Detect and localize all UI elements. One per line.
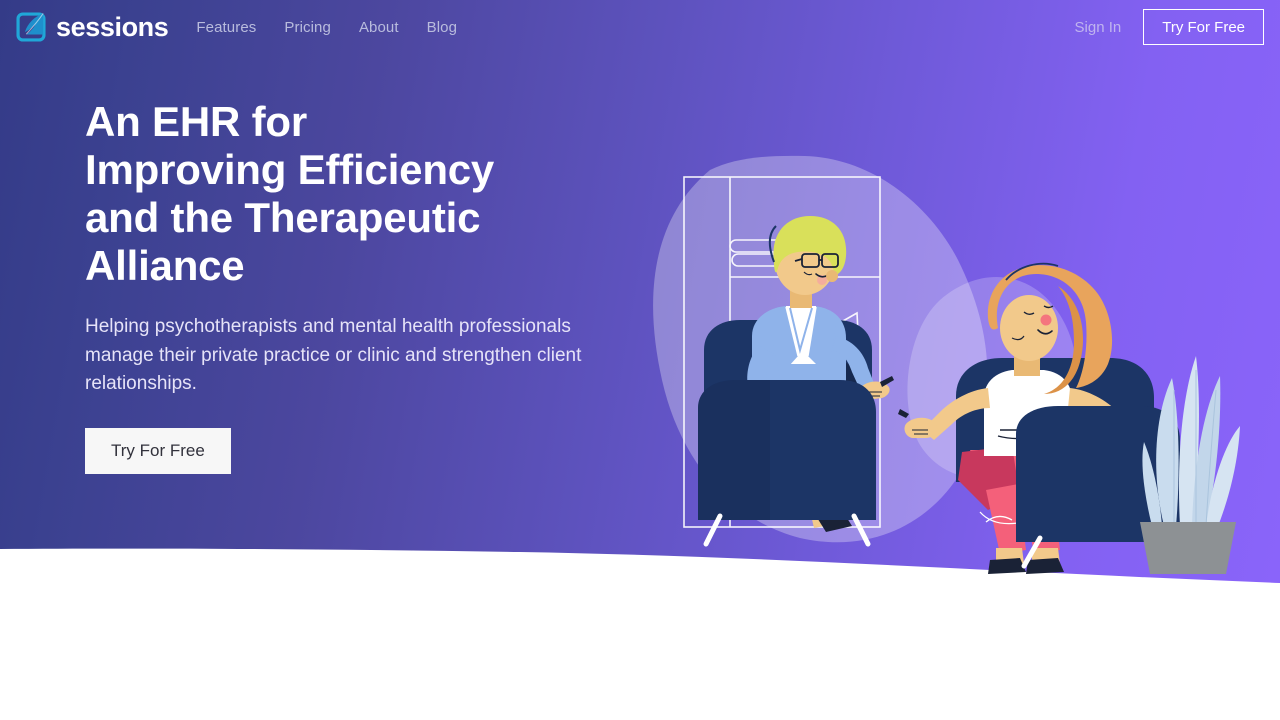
hero-try-for-free-button[interactable]: Try For Free (85, 428, 231, 474)
brand-wordmark: sessions (56, 14, 168, 41)
nav-try-for-free-button[interactable]: Try For Free (1143, 9, 1264, 45)
right-figure-blush (1041, 315, 1052, 326)
nav-link-blog[interactable]: Blog (427, 19, 457, 36)
leaf-in-square-icon (16, 12, 46, 42)
landing-page: sessions Features Pricing About Blog Sig… (0, 0, 1280, 720)
right-figure-shoe-a (988, 558, 1026, 574)
nav-actions-group: Sign In Try For Free (1075, 9, 1264, 45)
plant-pot (1140, 522, 1236, 574)
brand-logo-link[interactable]: sessions (16, 12, 168, 42)
right-figure-head (1000, 295, 1058, 361)
nav-link-about[interactable]: About (359, 19, 399, 36)
nav-links-group: Features Pricing About Blog (196, 19, 457, 36)
nav-link-features[interactable]: Features (196, 19, 256, 36)
right-figure-shoe-b (1026, 558, 1064, 574)
top-navigation-bar: sessions Features Pricing About Blog Sig… (0, 0, 1280, 54)
hero-headline: An EHR for Improving Efficiency and the … (85, 98, 505, 290)
hero-illustration (640, 150, 1220, 550)
hero-subheadline: Helping psychotherapists and mental heal… (85, 313, 590, 399)
sign-in-link[interactable]: Sign In (1075, 19, 1122, 36)
nav-link-pricing[interactable]: Pricing (284, 19, 331, 36)
hero-content: An EHR for Improving Efficiency and the … (85, 98, 625, 474)
